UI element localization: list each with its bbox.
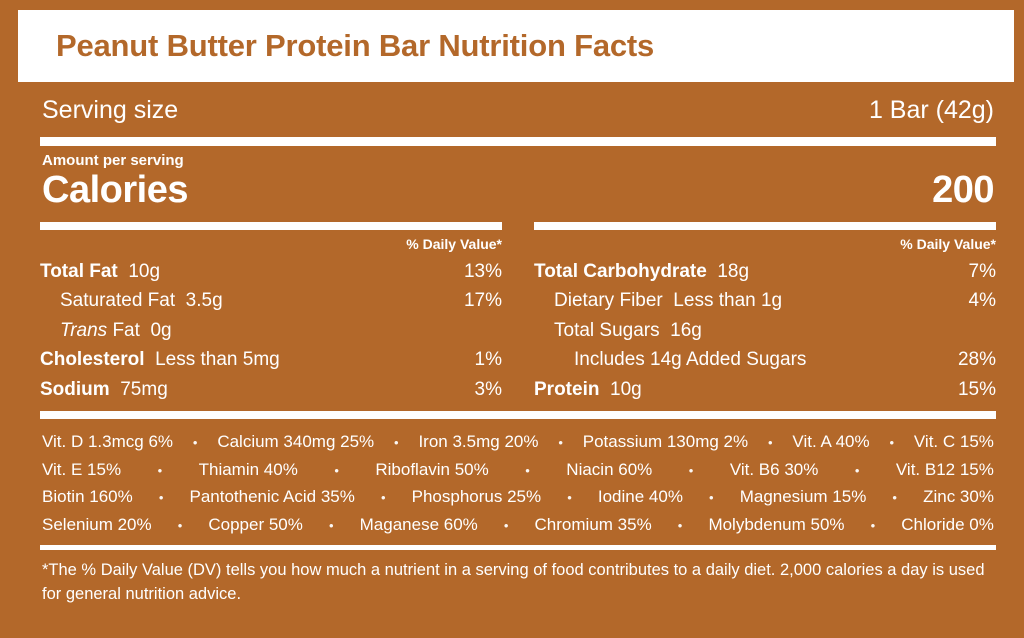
vitamin-item: Vit. D 1.3mcg 6% [42,428,173,456]
daily-value-footnote: *The % Daily Value (DV) tells you how mu… [40,550,996,607]
bullet-separator-icon: • [768,432,773,453]
vitamins-minerals-section: Vit. D 1.3mcg 6%•Calcium 340mg 25%•Iron … [40,419,996,545]
bullet-separator-icon: • [525,460,530,481]
bullet-separator-icon: • [678,515,683,536]
nutrient-daily-value: 15% [958,375,996,404]
vitamin-item: Calcium 340mg 25% [217,428,374,456]
vitamin-row: Selenium 20%•Copper 50%•Maganese 60%•Chr… [42,511,994,539]
vitamin-item: Pantothenic Acid 35% [189,483,354,511]
vitamin-row: Vit. E 15%•Thiamin 40%•Riboflavin 50%•Ni… [42,456,994,484]
bullet-separator-icon: • [178,515,183,536]
nutrient-row: Protein 10g15% [534,375,996,404]
nutrient-daily-value: 17% [464,286,502,315]
nutrient-daily-value: 4% [969,286,996,315]
vitamin-item: Zinc 30% [923,483,994,511]
nutrient-rows-right: Total Carbohydrate 18g7%Dietary Fiber Le… [534,257,996,404]
nutrient-daily-value: 13% [464,257,502,286]
nutrient-row: Includes 14g Added Sugars28% [534,345,996,374]
bullet-separator-icon: • [193,432,198,453]
nutrient-rows-left: Total Fat 10g13%Saturated Fat 3.5g17%Tra… [40,257,502,404]
vitamin-item: Vit. A 40% [792,428,869,456]
daily-value-header-right: % Daily Value* [534,230,996,257]
nutrient-row: Sodium 75mg3% [40,375,502,404]
bullet-separator-icon: • [567,487,572,508]
nutrient-column-right: % Daily Value* Total Carbohydrate 18g7%D… [534,222,996,404]
vitamin-item: Phosphorus 25% [412,483,541,511]
nutrient-row: Trans Fat 0g [40,316,502,345]
divider-under-nutrients [40,411,996,419]
bullet-separator-icon: • [855,460,860,481]
nutrient-name: Includes 14g Added Sugars [574,345,806,374]
bullet-separator-icon: • [504,515,509,536]
nutrient-name: Protein 10g [534,375,642,404]
vitamin-row: Biotin 160%•Pantothenic Acid 35%•Phospho… [42,483,994,511]
bullet-separator-icon: • [709,487,714,508]
nutrient-name: Total Fat 10g [40,257,160,286]
vitamin-item: Chloride 0% [901,511,994,539]
vitamin-item: Thiamin 40% [199,456,298,484]
title-bar: Peanut Butter Protein Bar Nutrition Fact… [18,10,1014,82]
nutrient-daily-value: 28% [958,345,996,374]
vitamin-item: Riboflavin 50% [375,456,488,484]
serving-size-value: 1 Bar (42g) [869,96,994,125]
serving-size-label: Serving size [42,96,178,125]
bullet-separator-icon: • [871,515,876,536]
vitamin-item: Vit. B12 15% [896,456,994,484]
vitamin-item: Selenium 20% [42,511,152,539]
nutrient-row: Total Sugars 16g [534,316,996,345]
amount-per-serving-label: Amount per serving [40,146,996,169]
calories-value: 200 [932,169,994,212]
bullet-separator-icon: • [889,432,894,453]
vitamin-item: Vit. E 15% [42,456,121,484]
nutrient-row: Dietary Fiber Less than 1g4% [534,286,996,315]
bullet-separator-icon: • [892,487,897,508]
vitamin-row: Vit. D 1.3mcg 6%•Calcium 340mg 25%•Iron … [42,428,994,456]
vitamin-item: Iodine 40% [598,483,683,511]
nutrient-name: Sodium 75mg [40,375,168,404]
nutrition-label-frame: Peanut Butter Protein Bar Nutrition Fact… [0,0,1024,638]
divider-right-column [534,222,996,230]
divider-under-nutrients-wrap [40,404,996,419]
nutrient-daily-value: 3% [475,375,502,404]
bullet-separator-icon: • [381,487,386,508]
bullet-separator-icon: • [159,487,164,508]
bullet-separator-icon: • [334,460,339,481]
vitamin-item: Copper 50% [208,511,303,539]
vitamin-item: Magnesium 15% [740,483,867,511]
nutrient-column-left: % Daily Value* Total Fat 10g13%Saturated… [40,222,502,404]
vitamin-item: Maganese 60% [360,511,478,539]
nutrition-facts-panel: Serving size 1 Bar (42g) Amount per serv… [18,82,1014,628]
nutrient-name: Saturated Fat 3.5g [60,286,223,315]
nutrient-daily-value: 7% [969,257,996,286]
vitamin-item: Potassium 130mg 2% [583,428,748,456]
vitamin-item: Chromium 35% [535,511,652,539]
nutrient-row: Total Carbohydrate 18g7% [534,257,996,286]
nutrient-row: Cholesterol Less than 5mg1% [40,345,502,374]
calories-row: Calories 200 [40,169,996,216]
nutrient-daily-value: 1% [475,345,502,374]
vitamin-item: Vit. C 15% [914,428,994,456]
page-title: Peanut Butter Protein Bar Nutrition Fact… [56,28,654,64]
nutrient-name: Cholesterol Less than 5mg [40,345,280,374]
vitamin-item: Niacin 60% [566,456,652,484]
daily-value-header-left: % Daily Value* [40,230,502,257]
nutrient-columns: % Daily Value* Total Fat 10g13%Saturated… [40,216,996,404]
bullet-separator-icon: • [158,460,163,481]
vitamin-item: Molybdenum 50% [708,511,844,539]
nutrient-row: Total Fat 10g13% [40,257,502,286]
nutrient-name: Trans Fat 0g [60,316,172,345]
calories-label: Calories [42,169,188,212]
bullet-separator-icon: • [329,515,334,536]
vitamin-item: Iron 3.5mg 20% [418,428,538,456]
divider-left-column [40,222,502,230]
vitamin-item: Biotin 160% [42,483,133,511]
nutrient-name: Total Sugars 16g [554,316,702,345]
serving-size-row: Serving size 1 Bar (42g) [40,82,996,137]
bullet-separator-icon: • [689,460,694,481]
bullet-separator-icon: • [394,432,399,453]
divider-under-serving [40,137,996,146]
nutrient-row: Saturated Fat 3.5g17% [40,286,502,315]
vitamin-item: Vit. B6 30% [730,456,819,484]
bullet-separator-icon: • [558,432,563,453]
nutrient-name: Dietary Fiber Less than 1g [554,286,782,315]
nutrient-name: Total Carbohydrate 18g [534,257,749,286]
